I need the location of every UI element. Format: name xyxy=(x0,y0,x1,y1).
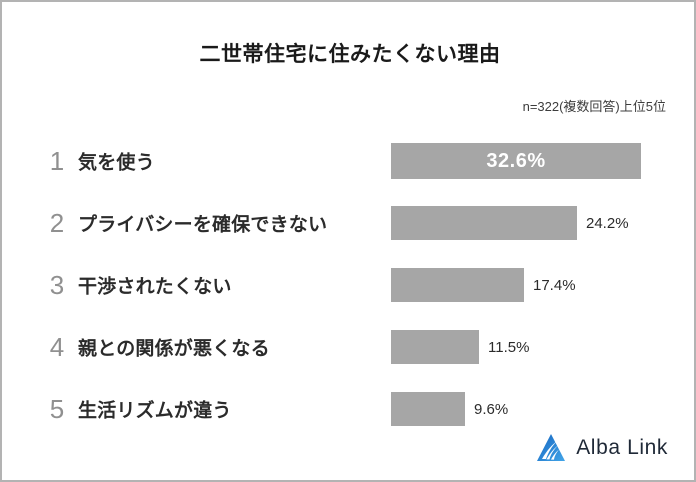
chart-row: 1 気を使う 32.6% xyxy=(2,130,696,192)
chart-sample-size-note: n=322(複数回答)上位5位 xyxy=(523,96,666,115)
bar-value: 9.6% xyxy=(474,401,508,418)
rank-number: 3 xyxy=(46,272,68,298)
bar-area: 32.6% xyxy=(391,144,671,178)
bar xyxy=(391,268,524,302)
category-label: 干渉されたくない xyxy=(78,272,232,299)
bar xyxy=(391,206,577,240)
bar-area: 11.5% xyxy=(391,330,671,364)
bar-value: 11.5% xyxy=(488,339,529,356)
logo-text: Alba Link xyxy=(576,436,668,460)
bar-value: 24.2% xyxy=(586,215,629,232)
bar: 32.6% xyxy=(391,143,641,179)
bar-chart-rows: 1 気を使う 32.6% 2 プライバシーを確保できない 24.2% 3 干渉さ… xyxy=(2,130,696,440)
chart-row: 4 親との関係が悪くなる 11.5% xyxy=(2,316,696,378)
chart-row: 5 生活リズムが違う 9.6% xyxy=(2,378,696,440)
rank-number: 5 xyxy=(46,396,68,422)
rank-number: 4 xyxy=(46,334,68,360)
bar-area: 24.2% xyxy=(391,206,671,240)
chart-title: 二世帯住宅に住みたくない理由 xyxy=(2,38,696,68)
bar-area: 9.6% xyxy=(391,392,671,426)
bar xyxy=(391,330,479,364)
chart-container: 二世帯住宅に住みたくない理由 n=322(複数回答)上位5位 1 気を使う 32… xyxy=(0,0,696,482)
category-label: 気を使う xyxy=(78,148,155,175)
bar-value: 17.4% xyxy=(533,277,576,294)
bar xyxy=(391,392,465,426)
brand-logo: Alba Link xyxy=(535,432,668,464)
rank-number: 1 xyxy=(46,148,68,174)
category-label: 親との関係が悪くなる xyxy=(78,334,270,361)
chart-row: 2 プライバシーを確保できない 24.2% xyxy=(2,192,696,254)
category-label: 生活リズムが違う xyxy=(78,396,232,423)
alba-link-triangle-icon xyxy=(535,432,567,464)
category-label: プライバシーを確保できない xyxy=(78,210,327,237)
bar-area: 17.4% xyxy=(391,268,671,302)
rank-number: 2 xyxy=(46,210,68,236)
chart-row: 3 干渉されたくない 17.4% xyxy=(2,254,696,316)
bar-value: 32.6% xyxy=(486,150,545,173)
